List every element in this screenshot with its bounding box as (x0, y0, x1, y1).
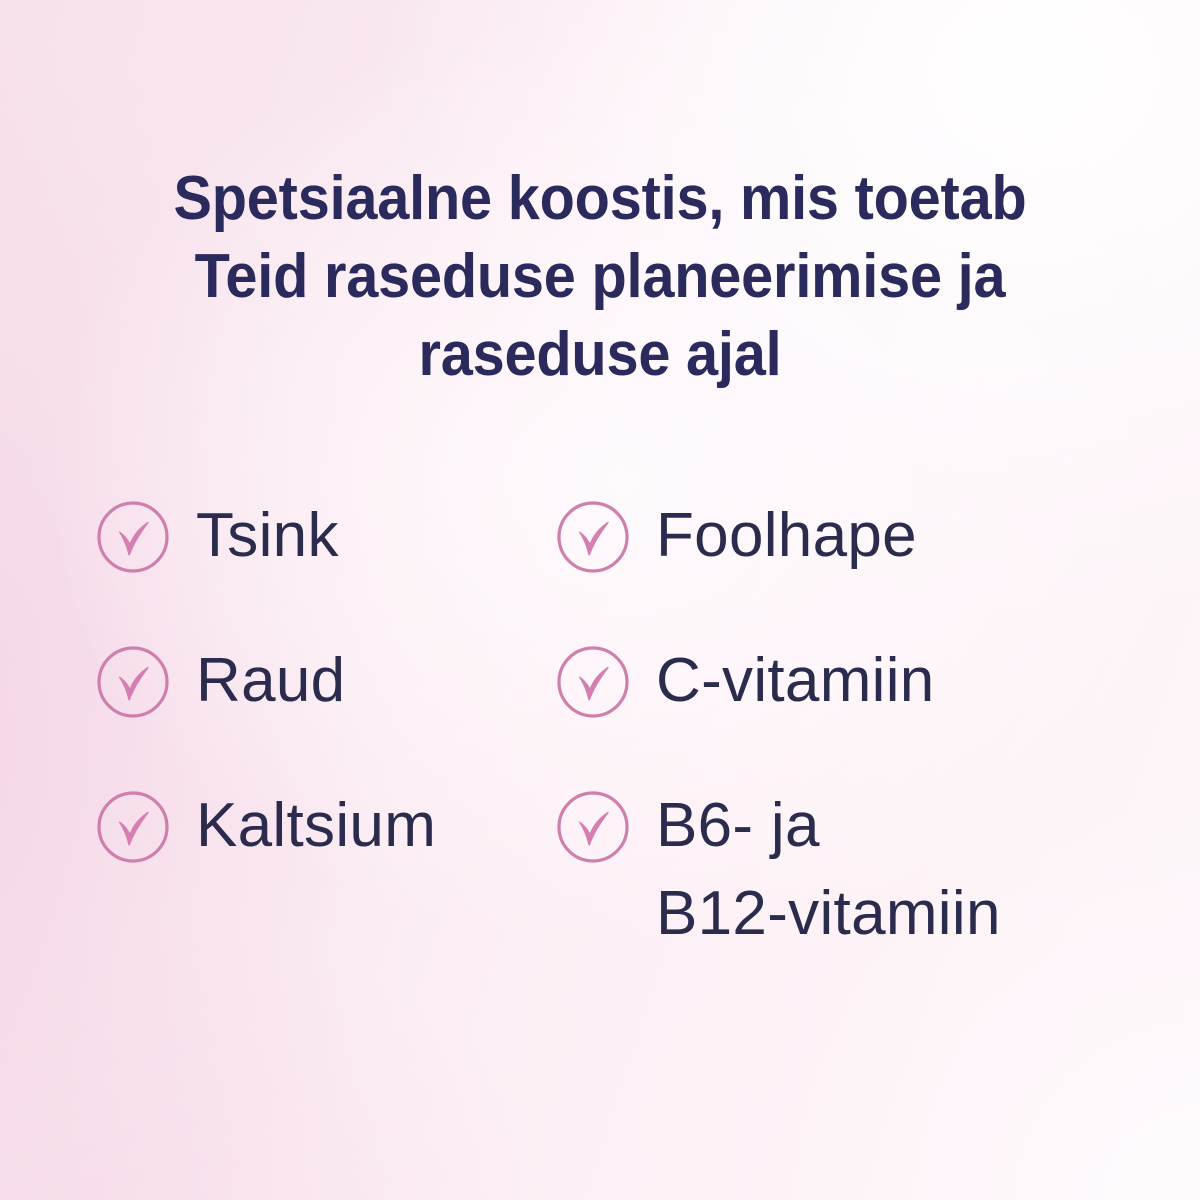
list-item-label: Foolhape (656, 492, 917, 580)
check-circle-icon (96, 645, 170, 719)
check-circle-icon (96, 500, 170, 574)
list-item: Raud (96, 637, 556, 725)
check-circle-icon (96, 790, 170, 864)
check-circle-icon (556, 500, 630, 574)
list-item-label: Tsink (196, 492, 339, 580)
list-item: C-vitamiin (556, 637, 1136, 725)
list-item-label: B6- ja B12-vitamiin (656, 782, 1001, 958)
list-item-label: Raud (196, 637, 345, 725)
promo-poster: Spetsiaalne koostis, mis toetab Teid ras… (0, 0, 1200, 1200)
check-circle-icon (556, 645, 630, 719)
list-item-label: C-vitamiin (656, 637, 935, 725)
list-item: Kaltsium (96, 782, 556, 958)
list-item: B6- ja B12-vitamiin (556, 782, 1136, 958)
list-item: Tsink (96, 492, 556, 580)
ingredient-checklist: Tsink Foolhape Raud (96, 492, 1136, 958)
list-item-label: Kaltsium (196, 782, 436, 870)
check-circle-icon (556, 790, 630, 864)
page-title: Spetsiaalne koostis, mis toetab Teid ras… (98, 160, 1102, 394)
list-item: Foolhape (556, 492, 1136, 580)
